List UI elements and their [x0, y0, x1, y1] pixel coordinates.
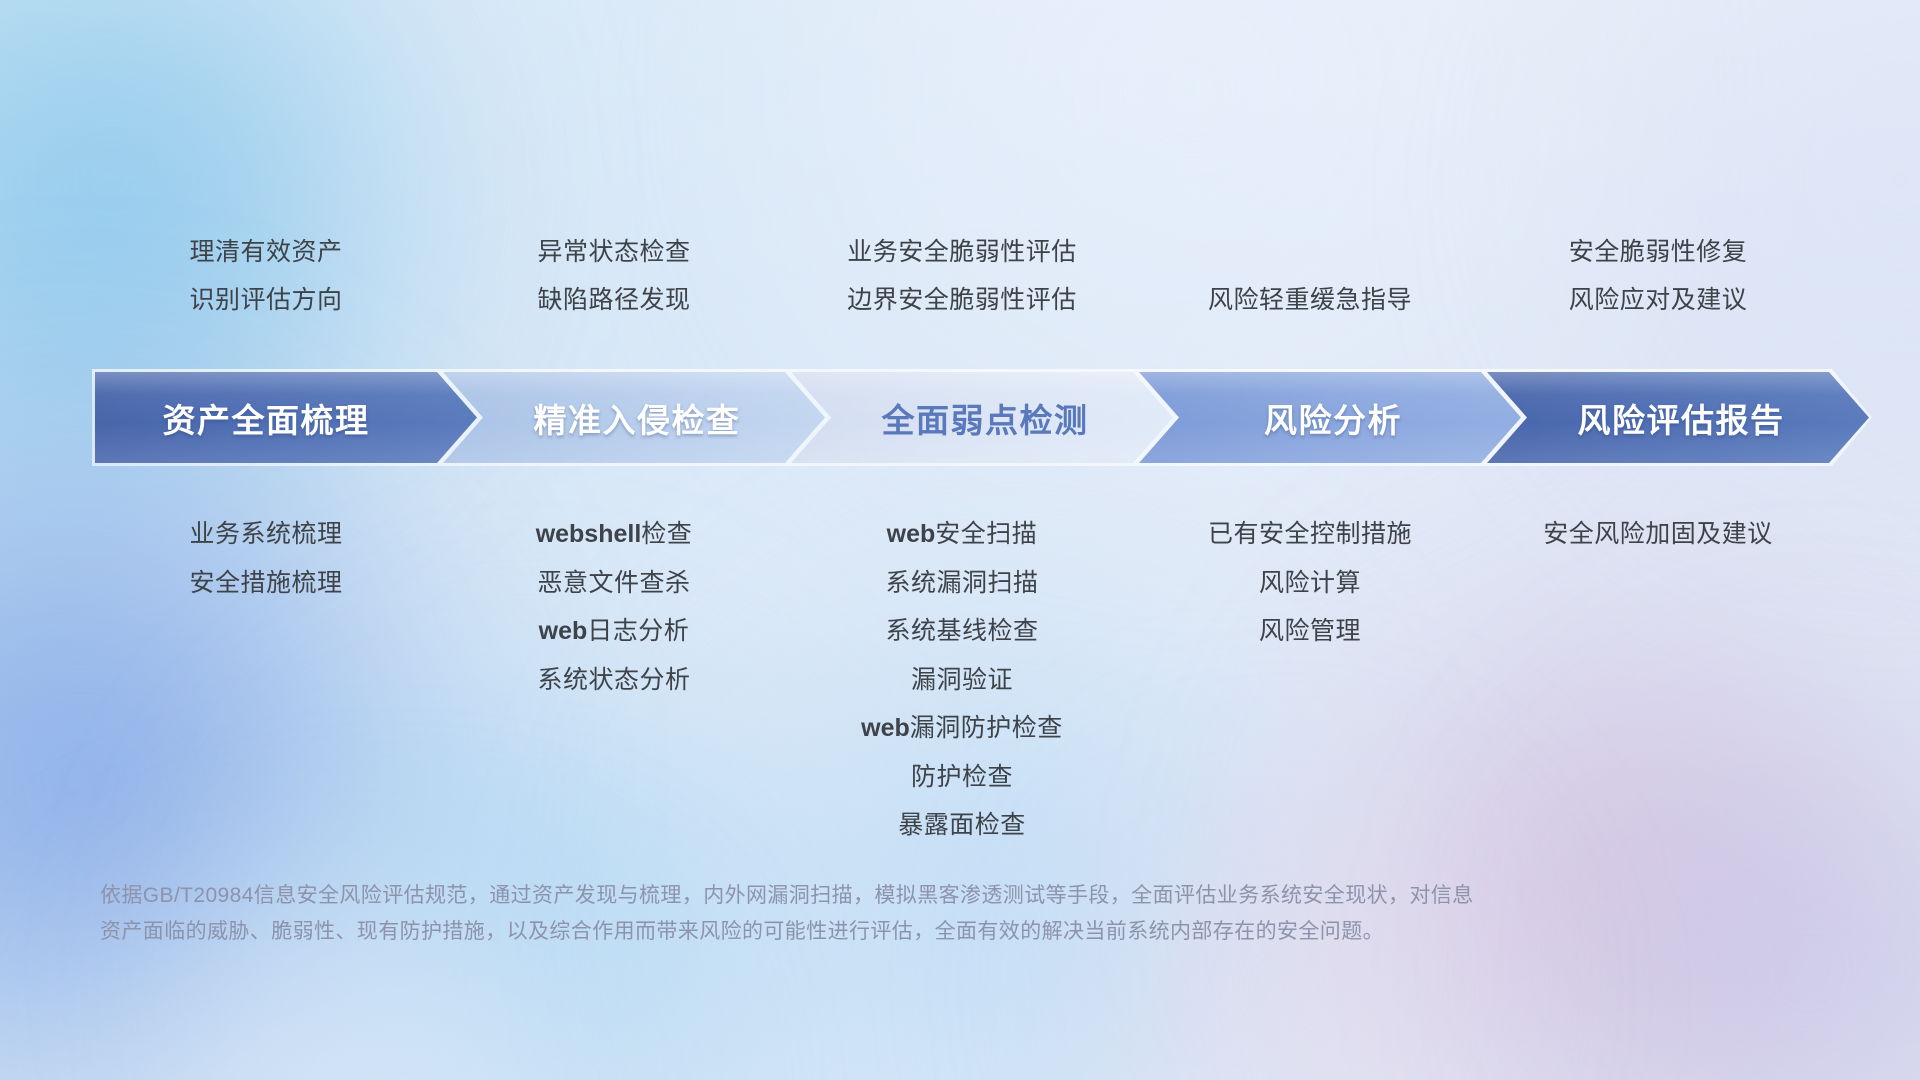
- top-label: 边界安全脆弱性评估: [788, 276, 1136, 324]
- bottom-label: 漏洞验证: [788, 656, 1136, 705]
- top-label: 安全脆弱性修复: [1484, 228, 1832, 276]
- bottom-label: 暴露面检查: [788, 801, 1136, 850]
- stage-chevron-3[interactable]: 全面弱点检测: [788, 369, 1176, 466]
- stage-title: 精准入侵检查: [534, 394, 741, 442]
- top-labels-column-2: 异常状态检查缺陷路径发现: [440, 228, 788, 324]
- bottom-label-latin: web: [861, 714, 910, 742]
- bottom-label-text: 检查: [641, 520, 692, 548]
- bottom-labels-column-2: webshell检查恶意文件查杀web日志分析系统状态分析: [440, 510, 788, 704]
- top-label: 缺陷路径发现: [440, 276, 788, 324]
- bottom-label: 恶意文件查杀: [440, 559, 788, 608]
- stage-title: 全面弱点检测: [882, 394, 1089, 442]
- bottom-label: 系统漏洞扫描: [788, 559, 1136, 608]
- top-label: 风险轻重缓急指导: [1136, 276, 1484, 324]
- top-labels-column-3: 业务安全脆弱性评估边界安全脆弱性评估: [788, 228, 1136, 324]
- bottom-label: web漏洞防护检查: [788, 704, 1136, 753]
- top-label: 识别评估方向: [92, 276, 440, 324]
- process-diagram: 理清有效资产识别评估方向异常状态检查缺陷路径发现业务安全脆弱性评估边界安全脆弱性…: [0, 0, 1920, 1080]
- footer-line-2: 资产面临的威胁、脆弱性、现有防护措施，以及综合作用而带来风险的可能性进行评估，全…: [100, 914, 1660, 950]
- bottom-label-text: 漏洞防护检查: [910, 714, 1063, 742]
- footer-description: 依据GB/T20984信息安全风险评估规范，通过资产发现与梳理，内外网漏洞扫描，…: [100, 878, 1660, 950]
- bottom-label-text: 安全扫描: [935, 520, 1037, 548]
- stage-chevron-4[interactable]: 风险分析: [1136, 369, 1524, 466]
- stage-title: 风险分析: [1264, 394, 1402, 442]
- top-label: 理清有效资产: [92, 228, 440, 276]
- top-label: 业务安全脆弱性评估: [788, 228, 1136, 276]
- bottom-label: 系统状态分析: [440, 656, 788, 705]
- top-labels-row: 理清有效资产识别评估方向异常状态检查缺陷路径发现业务安全脆弱性评估边界安全脆弱性…: [92, 228, 1832, 324]
- bottom-label-text: 日志分析: [587, 617, 689, 645]
- top-labels-column-4: 风险轻重缓急指导: [1136, 228, 1484, 324]
- bottom-label: 业务系统梳理: [92, 510, 440, 559]
- bottom-label: 系统基线检查: [788, 607, 1136, 656]
- bottom-labels-column-4: 已有安全控制措施风险计算风险管理: [1136, 510, 1484, 656]
- top-labels-column-1: 理清有效资产识别评估方向: [92, 228, 440, 324]
- bottom-labels-row: 业务系统梳理安全措施梳理webshell检查恶意文件查杀web日志分析系统状态分…: [92, 510, 1832, 850]
- bottom-label: 已有安全控制措施: [1136, 510, 1484, 559]
- stage-chevron-1[interactable]: 资产全面梳理: [92, 369, 480, 466]
- top-labels-column-5: 安全脆弱性修复风险应对及建议: [1484, 228, 1832, 324]
- stage-title: 资产全面梳理: [163, 394, 370, 442]
- bottom-labels-column-1: 业务系统梳理安全措施梳理: [92, 510, 440, 607]
- stage-chevron-5[interactable]: 风险评估报告: [1484, 369, 1872, 466]
- bottom-label: 安全风险加固及建议: [1484, 510, 1832, 559]
- bottom-label: webshell检查: [440, 510, 788, 559]
- stage-chevron-2[interactable]: 精准入侵检查: [440, 369, 828, 466]
- bottom-labels-column-3: web安全扫描系统漏洞扫描系统基线检查漏洞验证web漏洞防护检查防护检查暴露面检…: [788, 510, 1136, 850]
- footer-line-1: 依据GB/T20984信息安全风险评估规范，通过资产发现与梳理，内外网漏洞扫描，…: [100, 878, 1660, 914]
- bottom-labels-column-5: 安全风险加固及建议: [1484, 510, 1832, 559]
- top-label: 异常状态检查: [440, 228, 788, 276]
- bottom-label: web日志分析: [440, 607, 788, 656]
- top-label: 风险应对及建议: [1484, 276, 1832, 324]
- bottom-label-latin: web: [539, 617, 588, 645]
- bottom-label: 风险计算: [1136, 559, 1484, 608]
- bottom-label: 风险管理: [1136, 607, 1484, 656]
- stage-chevron-band: 资产全面梳理精准入侵检查全面弱点检测风险分析风险评估报告: [92, 369, 1832, 466]
- bottom-label: web安全扫描: [788, 510, 1136, 559]
- bottom-label: 安全措施梳理: [92, 559, 440, 608]
- bottom-label-latin: webshell: [536, 520, 642, 548]
- bottom-label-latin: web: [887, 520, 936, 548]
- bottom-label: 防护检查: [788, 753, 1136, 802]
- stage-title: 风险评估报告: [1578, 394, 1785, 442]
